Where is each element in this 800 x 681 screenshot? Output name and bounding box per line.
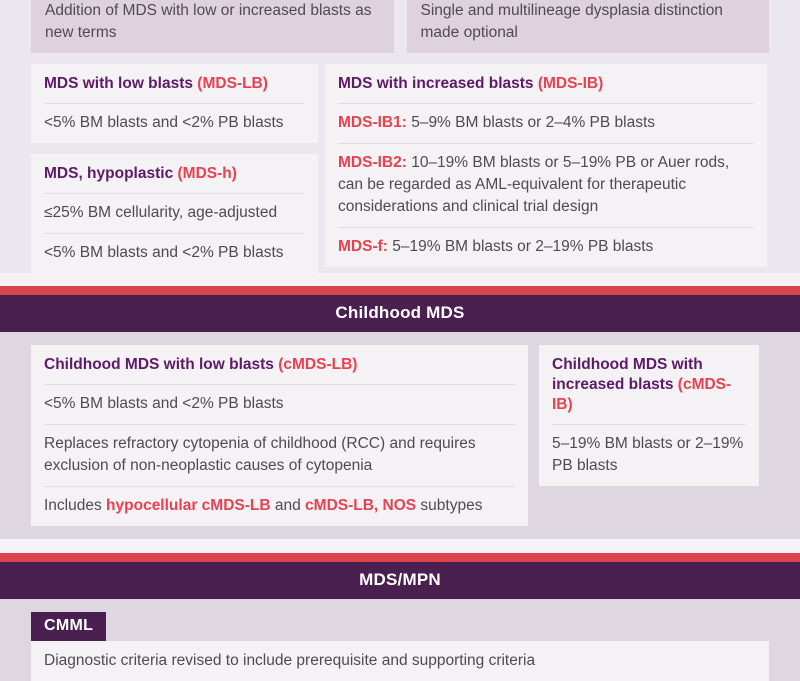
mds-section-bottom-gap [0,273,800,286]
card-cmds-lb-row-1-text: <5% BM blasts and <2% PB blasts [44,395,284,412]
card-mds-h-row-2-text: <5% BM blasts and <2% PB blasts [44,244,284,261]
card-mds-h: MDS, hypoplastic (MDS-h) ≤25% BM cellula… [31,154,318,273]
childhood-section-bottom-gap [0,539,800,553]
section-header-childhood-mds-text: Childhood MDS [335,303,464,322]
card-mds-ib-row-f-tag: MDS-f: [338,238,388,255]
card-cmds-ib: Childhood MDS with increased blasts (cMD… [539,345,759,485]
card-mds-h-title: MDS, hypoplastic (MDS-h) [44,154,305,193]
card-mds-ib: MDS with increased blasts (MDS-IB) MDS-I… [325,64,767,267]
card-cmds-lb: Childhood MDS with low blasts (cMDS-LB) … [31,345,528,526]
card-mds-lb-row-1-text: <5% BM blasts and <2% PB blasts [44,114,284,131]
mds-top-note-1: Addition of MDS with low or increased bl… [31,0,394,53]
badge-cmml: CMML [31,612,106,641]
mds-mpn-body: CMML Diagnostic criteria revised to incl… [0,599,800,681]
childhood-mds-body: Childhood MDS with low blasts (cMDS-LB) … [0,332,800,539]
card-mds-lb-title-text: MDS with low blasts [44,75,193,92]
mds-top-notes-row: Addition of MDS with low or increased bl… [31,0,769,53]
includes-highlight-2: cMDS-LB, NOS [305,497,416,514]
card-mds-h-row-2: <5% BM blasts and <2% PB blasts [44,233,305,273]
includes-middle: and [271,497,305,514]
card-cmds-lb-title-text: Childhood MDS with low blasts [44,356,274,373]
card-mds-ib-row-ib1-text: 5–9% BM blasts or 2–4% PB blasts [407,114,655,131]
includes-highlight-1: hypocellular cMDS-LB [106,497,271,514]
badge-cmml-text: CMML [44,617,93,634]
section-header-mds-mpn: MDS/MPN [0,562,800,599]
card-cmds-ib-title: Childhood MDS with increased blasts (cMD… [552,345,746,423]
mds-section: Addition of MDS with low or increased bl… [0,0,800,273]
card-cmds-lb-row-2-text: Replaces refractory cytopenia of childho… [44,435,476,474]
mds-left-column: MDS with low blasts (MDS-LB) <5% BM blas… [31,64,318,273]
childhood-mds-columns: Childhood MDS with low blasts (cMDS-LB) … [31,345,769,526]
mds-right-column: MDS with increased blasts (MDS-IB) MDS-I… [325,64,767,267]
card-cmds-lb-row-1: <5% BM blasts and <2% PB blasts [44,384,515,424]
card-mds-ib-row-ib2-tag: MDS-IB2: [338,154,407,171]
childhood-mds-right-column: Childhood MDS with increased blasts (cMD… [539,345,759,485]
card-cmds-lb-title: Childhood MDS with low blasts (cMDS-LB) [44,345,515,384]
includes-suffix: subtypes [416,497,482,514]
card-mds-lb: MDS with low blasts (MDS-LB) <5% BM blas… [31,64,318,143]
card-cmds-lb-row-2: Replaces refractory cytopenia of childho… [44,424,515,486]
card-cmml-row-1-text: Diagnostic criteria revised to include p… [44,652,535,669]
card-mds-h-title-text: MDS, hypoplastic [44,165,173,182]
card-cmds-lb-row-includes: Includes hypocellular cMDS-LB and cMDS-L… [44,486,515,526]
card-mds-ib-row-f-text: 5–19% BM blasts or 2–19% PB blasts [388,238,653,255]
section-header-childhood-mds: Childhood MDS [0,295,800,332]
card-mds-h-code: (MDS-h) [178,165,237,182]
card-cmds-ib-row-1-text: 5–19% BM blasts or 2–19% PB blasts [552,435,743,474]
card-mds-ib-row-ib1-tag: MDS-IB1: [338,114,407,131]
card-mds-ib-row-ib1: MDS-IB1: 5–9% BM blasts or 2–4% PB blast… [338,103,754,143]
infographic-page: Addition of MDS with low or increased bl… [0,0,800,600]
card-cmml-row-1: Diagnostic criteria revised to include p… [44,641,756,681]
mds-columns: MDS with low blasts (MDS-LB) <5% BM blas… [31,64,769,273]
mds-top-note-2-text: Single and multilineage dysplasia distin… [421,2,723,41]
divider-red-mdsmpn [0,553,800,562]
card-mds-ib-title-text: MDS with increased blasts [338,75,534,92]
card-mds-ib-row-ib2: MDS-IB2: 10–19% BM blasts or 5–19% PB or… [338,143,754,227]
card-mds-lb-row-1: <5% BM blasts and <2% PB blasts [44,103,305,143]
card-mds-ib-row-f: MDS-f: 5–19% BM blasts or 2–19% PB blast… [338,227,754,267]
childhood-mds-left-column: Childhood MDS with low blasts (cMDS-LB) … [31,345,528,526]
card-mds-lb-title: MDS with low blasts (MDS-LB) [44,64,305,103]
card-mds-ib-title: MDS with increased blasts (MDS-IB) [338,64,754,103]
divider-red-childhood [0,286,800,295]
mds-top-note-2: Single and multilineage dysplasia distin… [407,0,770,53]
card-cmds-ib-row-1: 5–19% BM blasts or 2–19% PB blasts [552,424,746,486]
section-header-mds-mpn-text: MDS/MPN [359,570,441,589]
card-mds-h-row-1: ≤25% BM cellularity, age-adjusted [44,193,305,233]
card-mds-lb-code: (MDS-LB) [197,75,268,92]
card-mds-ib-code: (MDS-IB) [538,75,603,92]
includes-prefix: Includes [44,497,106,514]
card-cmml: Diagnostic criteria revised to include p… [31,641,769,681]
card-mds-h-row-1-text: ≤25% BM cellularity, age-adjusted [44,204,277,221]
card-cmds-lb-code: (cMDS-LB) [278,356,357,373]
mds-top-note-1-text: Addition of MDS with low or increased bl… [45,2,372,41]
